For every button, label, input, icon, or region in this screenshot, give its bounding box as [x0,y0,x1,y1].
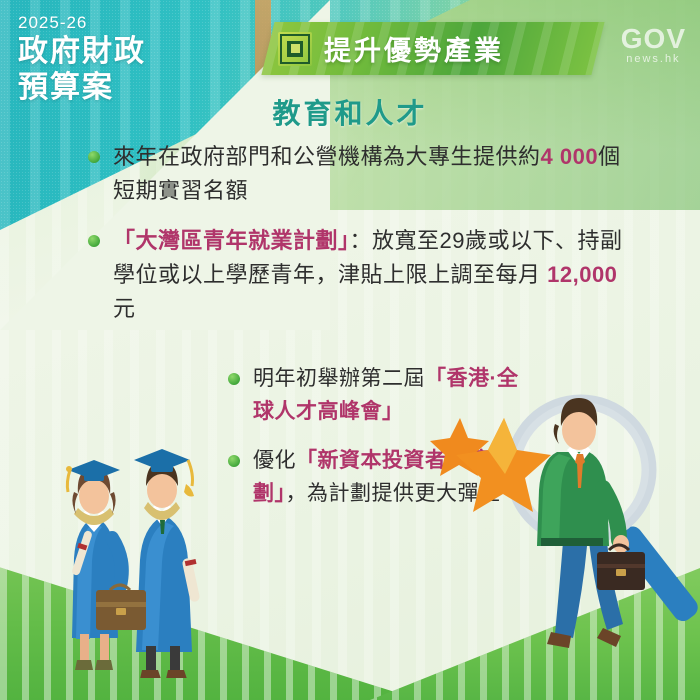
bullet-list-top: 來年在政府部門和公營機構為大專生提供約4 000個短期實習名額「大灣區青年就業計… [88,140,633,342]
bullet-dot-icon [228,373,240,385]
infographic-poster: 2025-26 政府財政 預算案 提升優勢產業 GOV news.hk 教育和人… [0,0,700,700]
bullet-dot-icon [228,455,240,467]
section-ribbon: 提升優勢產業 [261,22,604,75]
bullet-text: 「大灣區青年就業計劃」：放寬至29歲或以下、持副學位或以上學歷青年，津貼上限上調… [113,224,633,326]
highlight-text: 12,000 [547,262,617,287]
plain-text: 來年在政府部門和公營機構為大專生提供約 [113,144,541,169]
bullet-item-internship-quota: 來年在政府部門和公營機構為大專生提供約4 000個短期實習名額 [88,140,633,208]
stars-illustration [430,410,560,530]
logo-secondary: news.hk [621,52,686,66]
bullet-dot-icon [88,235,100,247]
logo-primary: GOV [621,26,686,52]
highlight-text: 「大灣區青年就業計劃」 [113,228,350,253]
graduates-illustration [34,398,239,678]
highlight-text: 4 000 [541,144,599,169]
plain-text: 元 [113,296,136,321]
bullet-text: 來年在政府部門和公營機構為大專生提供約4 000個短期實習名額 [113,140,633,208]
bullet-item-gba-youth-employment-scheme: 「大灣區青年就業計劃」：放寬至29歲或以下、持副學位或以上學歷青年，津貼上限上調… [88,224,633,326]
budget-title-line1: 政府財政 [18,34,146,70]
bullet-dot-icon [88,151,100,163]
industry-chip-icon [278,32,312,66]
plain-text: 優化 [253,449,296,472]
section-subtitle: 教育和人才 [0,92,700,132]
budget-year: 2025-26 [18,12,146,34]
plain-text: 明年初舉辦第二屆 [253,367,425,390]
govnews-logo: GOV news.hk [621,26,686,66]
ribbon-title: 提升優勢產業 [324,29,504,68]
